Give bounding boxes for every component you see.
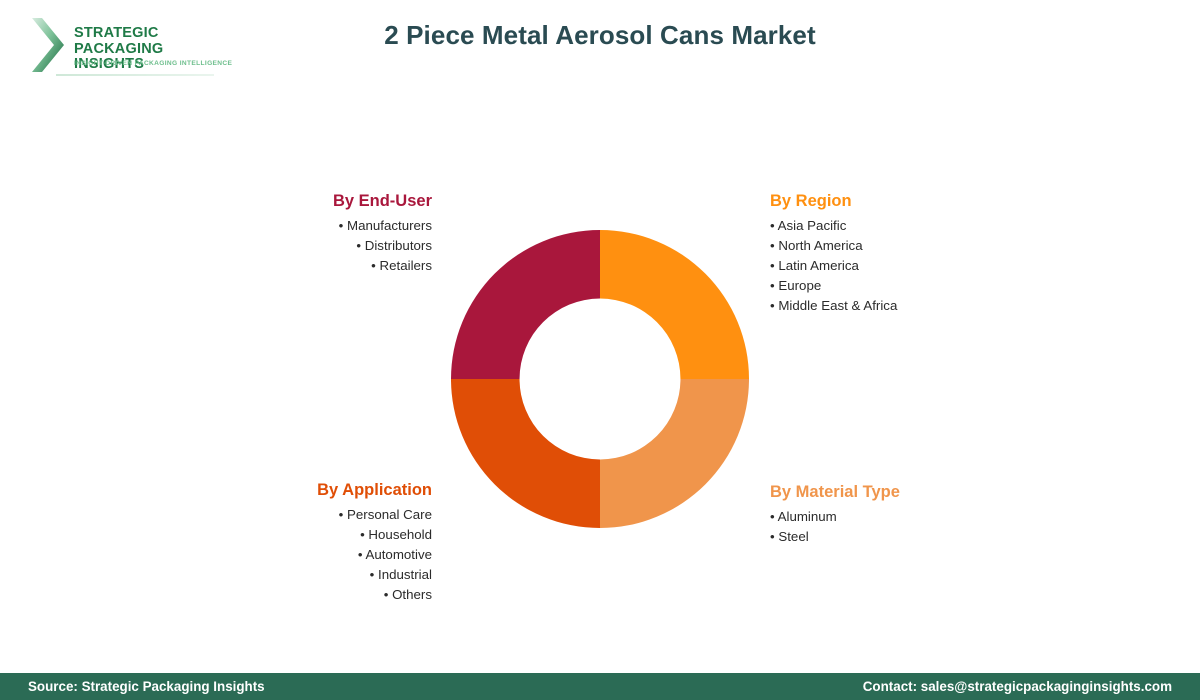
- donut-slice[interactable]: [451, 230, 600, 379]
- list-item: Aluminum: [770, 507, 1030, 527]
- list-item: North America: [770, 236, 1030, 256]
- logo-tagline: INSIGHT-DRIVEN PACKAGING INTELLIGENCE: [74, 60, 232, 67]
- segment-heading-region: By Region: [770, 192, 1030, 211]
- list-item: Personal Care: [192, 505, 432, 525]
- segment-list-material-type: AluminumSteel: [770, 507, 1030, 547]
- list-item: Others: [192, 585, 432, 605]
- donut-slice[interactable]: [451, 379, 600, 528]
- list-item: Retailers: [212, 256, 432, 276]
- donut-slice[interactable]: [600, 379, 749, 528]
- list-item: Household: [192, 525, 432, 545]
- segment-heading-material-type: By Material Type: [770, 483, 1030, 502]
- list-item: Industrial: [192, 565, 432, 585]
- list-item: Manufacturers: [212, 216, 432, 236]
- footer-contact[interactable]: Contact: sales@strategicpackaginginsight…: [863, 679, 1200, 694]
- segment-list-application: Personal CareHouseholdAutomotiveIndustri…: [192, 505, 432, 605]
- segment-heading-end-user: By End-User: [212, 192, 432, 211]
- segment-list-end-user: ManufacturersDistributorsRetailers: [212, 216, 432, 276]
- list-item: Europe: [770, 276, 1030, 296]
- infographic-canvas: STRATEGIC PACKAGING INSIGHTS INSIGHT-DRI…: [0, 0, 1200, 700]
- segment-block-material-type: By Material Type AluminumSteel: [770, 483, 1030, 547]
- list-item: Distributors: [212, 236, 432, 256]
- segment-heading-application: By Application: [192, 481, 432, 500]
- segment-block-application: By Application Personal CareHouseholdAut…: [192, 481, 432, 605]
- segment-list-region: Asia PacificNorth AmericaLatin AmericaEu…: [770, 216, 1030, 316]
- page-title: 2 Piece Metal Aerosol Cans Market: [0, 20, 1200, 51]
- segment-block-region: By Region Asia PacificNorth AmericaLatin…: [770, 192, 1030, 316]
- logo-underline: [56, 74, 214, 76]
- list-item: Automotive: [192, 545, 432, 565]
- list-item: Latin America: [770, 256, 1030, 276]
- list-item: Middle East & Africa: [770, 296, 1030, 316]
- list-item: Steel: [770, 527, 1030, 547]
- footer-bar: Source: Strategic Packaging Insights Con…: [0, 673, 1200, 700]
- footer-source: Source: Strategic Packaging Insights: [0, 679, 265, 694]
- donut-chart-svg: [451, 230, 749, 528]
- donut-slice[interactable]: [600, 230, 749, 379]
- segment-block-end-user: By End-User ManufacturersDistributorsRet…: [212, 192, 432, 276]
- donut-chart: [451, 230, 749, 528]
- list-item: Asia Pacific: [770, 216, 1030, 236]
